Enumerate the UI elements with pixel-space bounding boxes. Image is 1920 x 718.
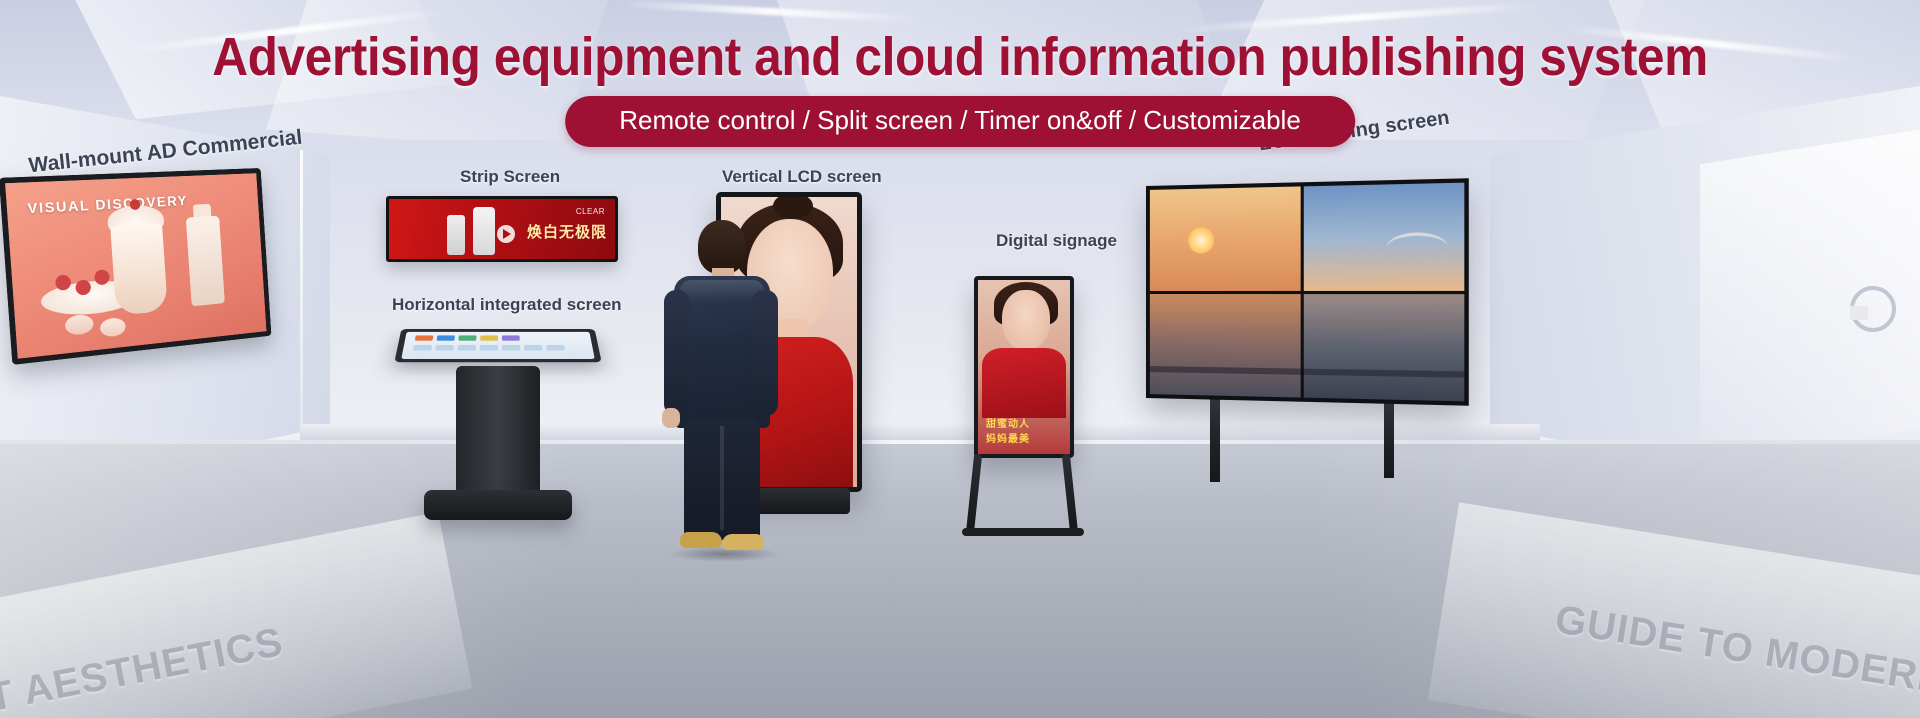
- strip-screen-logo: CLEAR: [576, 207, 605, 216]
- person-shoe: [722, 534, 764, 550]
- dashboard-chip: [458, 345, 476, 351]
- bottle-graphic: [186, 216, 225, 307]
- display-bezel: 甜蜜动人 妈妈最美: [974, 276, 1074, 458]
- video-wall-frame: [1146, 178, 1469, 406]
- bridge-arch-graphic: [1387, 233, 1448, 263]
- video-wall-grid: [1150, 183, 1464, 402]
- sun-graphic: [1188, 227, 1214, 254]
- signage-screen-text-line1: 甜蜜动人: [986, 415, 1030, 430]
- label-horizontal-integrated-screen: Horizontal integrated screen: [392, 295, 622, 315]
- dashboard-row: [415, 335, 520, 340]
- video-wall-panel: [1150, 294, 1300, 398]
- macaron-graphic: [64, 314, 94, 336]
- person-right-arm: [752, 290, 778, 416]
- kiosk-base: [424, 490, 572, 520]
- dashboard-chip: [437, 335, 455, 340]
- device-lcd-splicing-screen[interactable]: [1146, 178, 1469, 406]
- display-bezel: CLEAR 焕白无极限: [386, 196, 618, 262]
- video-wall-panel: [1303, 183, 1464, 291]
- dashboard-chip: [480, 345, 498, 351]
- page-title: Advertising equipment and cloud informat…: [77, 26, 1843, 88]
- video-wall-stand: [1384, 394, 1394, 478]
- device-horizontal-integrated-screen[interactable]: [398, 318, 598, 538]
- model-face-graphic: [1002, 290, 1050, 350]
- circular-logo-badge: [1850, 286, 1896, 332]
- cup-graphic: [110, 223, 168, 316]
- signage-screen-text-line2: 妈妈最美: [986, 430, 1030, 445]
- dashboard-chip: [458, 335, 476, 340]
- display-screen: [401, 332, 595, 359]
- wall-mount-screen-text: VISUAL DISCOVERY: [27, 193, 188, 217]
- product-bottle-graphic: [447, 215, 465, 255]
- pier-graphic: [1303, 369, 1464, 378]
- person-viewing-display: [660, 220, 780, 560]
- signage-foot-bar: [962, 528, 1084, 536]
- device-strip-screen[interactable]: CLEAR 焕白无极限: [386, 196, 618, 262]
- person-leg-divider: [720, 426, 724, 530]
- person-shoe: [680, 532, 722, 548]
- product-bottle-graphic: [473, 207, 495, 255]
- dashboard-chip: [502, 335, 520, 340]
- dashboard-chip: [415, 335, 434, 340]
- macaron-graphic: [100, 317, 127, 338]
- kiosk-pedestal: [456, 366, 540, 496]
- person-hand: [662, 408, 680, 428]
- display-screen: 甜蜜动人 妈妈最美: [978, 280, 1070, 454]
- kiosk-display-panel: [394, 329, 601, 362]
- signage-leg: [966, 454, 982, 534]
- dashboard-chip: [480, 335, 498, 340]
- label-strip-screen: Strip Screen: [460, 167, 560, 187]
- pier-graphic: [1150, 366, 1300, 375]
- device-digital-signage[interactable]: 甜蜜动人 妈妈最美: [962, 276, 1082, 536]
- display-screen: VISUAL DISCOVERY: [5, 173, 266, 359]
- promo-banner: T AESTHETICS GUIDE TO MODERN Advertising…: [0, 0, 1920, 718]
- play-icon: [497, 225, 515, 243]
- display-screen: CLEAR 焕白无极限: [389, 199, 615, 259]
- display-bezel: VISUAL DISCOVERY: [0, 168, 271, 365]
- device-wall-mount-display[interactable]: VISUAL DISCOVERY: [0, 168, 271, 365]
- dashboard-row: [413, 345, 565, 351]
- label-digital-signage: Digital signage: [996, 231, 1117, 251]
- video-wall-stand: [1210, 398, 1220, 482]
- feature-subtitle-badge: Remote control / Split screen / Timer on…: [565, 96, 1355, 147]
- person-head: [698, 220, 746, 274]
- dashboard-chip: [502, 345, 520, 351]
- video-wall-panel: [1150, 186, 1300, 290]
- dashboard-chip: [524, 345, 543, 351]
- video-wall-panel: [1303, 294, 1464, 402]
- signage-leg: [1062, 454, 1078, 534]
- model-dress-graphic: [982, 348, 1066, 418]
- dashboard-chip: [435, 345, 454, 351]
- dashboard-chip: [546, 345, 565, 351]
- label-vertical-lcd-screen: Vertical LCD screen: [722, 167, 882, 187]
- strip-screen-text: 焕白无极限: [527, 221, 607, 242]
- wall-floor-joint: [0, 440, 1920, 444]
- person-left-arm: [664, 290, 690, 416]
- dashboard-chip: [413, 345, 432, 351]
